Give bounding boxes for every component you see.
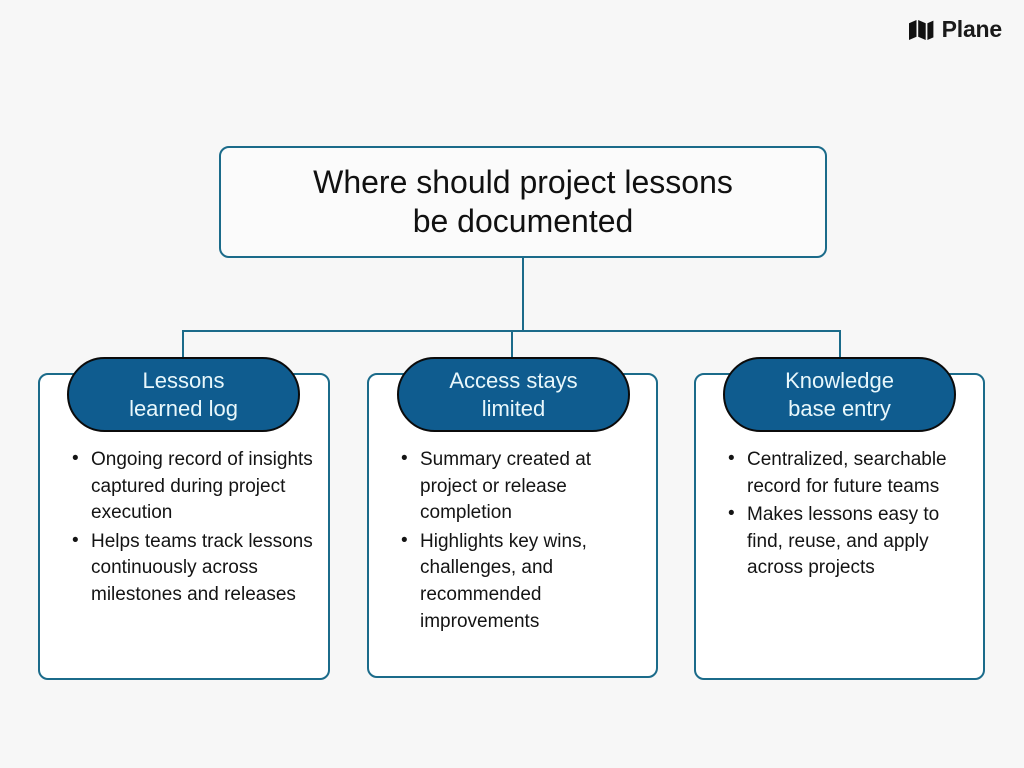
diagram-title-box: Where should project lessons be document… (219, 146, 827, 258)
branch-bullet-list: Centralized, searchable record for futur… (706, 447, 969, 582)
branch-bullet-list: Summary created at project or release co… (379, 447, 642, 635)
list-item: Ongoing record of insights captured duri… (72, 447, 314, 527)
list-item: Helps teams track lessons continuously a… (72, 529, 314, 609)
branch-header-label: Lessons learned log (129, 367, 238, 423)
branch-card-body: Ongoing record of insights captured duri… (40, 447, 328, 611)
branch-card-body: Centralized, searchable record for futur… (696, 447, 983, 584)
diagram-title-text: Where should project lessons be document… (297, 163, 749, 241)
branch-header-pill-lessons-learned-log: Lessons learned log (67, 357, 300, 432)
branch-bullet-list: Ongoing record of insights captured duri… (50, 447, 314, 609)
branch-header-pill-access-stays-limited: Access stays limited (397, 357, 630, 432)
branch-header-pill-knowledge-base-entry: Knowledge base entry (723, 357, 956, 432)
branch-header-label: Access stays limited (449, 367, 577, 423)
brand-logo: Plane (908, 18, 1002, 41)
list-item: Highlights key wins, challenges, and rec… (401, 529, 642, 635)
branch-header-label: Knowledge base entry (785, 367, 894, 423)
brand-name: Plane (942, 18, 1002, 41)
list-item: Summary created at project or release co… (401, 447, 642, 527)
list-item: Centralized, searchable record for futur… (728, 447, 969, 500)
branch-card-body: Summary created at project or release co… (369, 447, 656, 637)
plane-logo-icon (908, 19, 934, 41)
list-item: Makes lessons easy to find, reuse, and a… (728, 502, 969, 582)
